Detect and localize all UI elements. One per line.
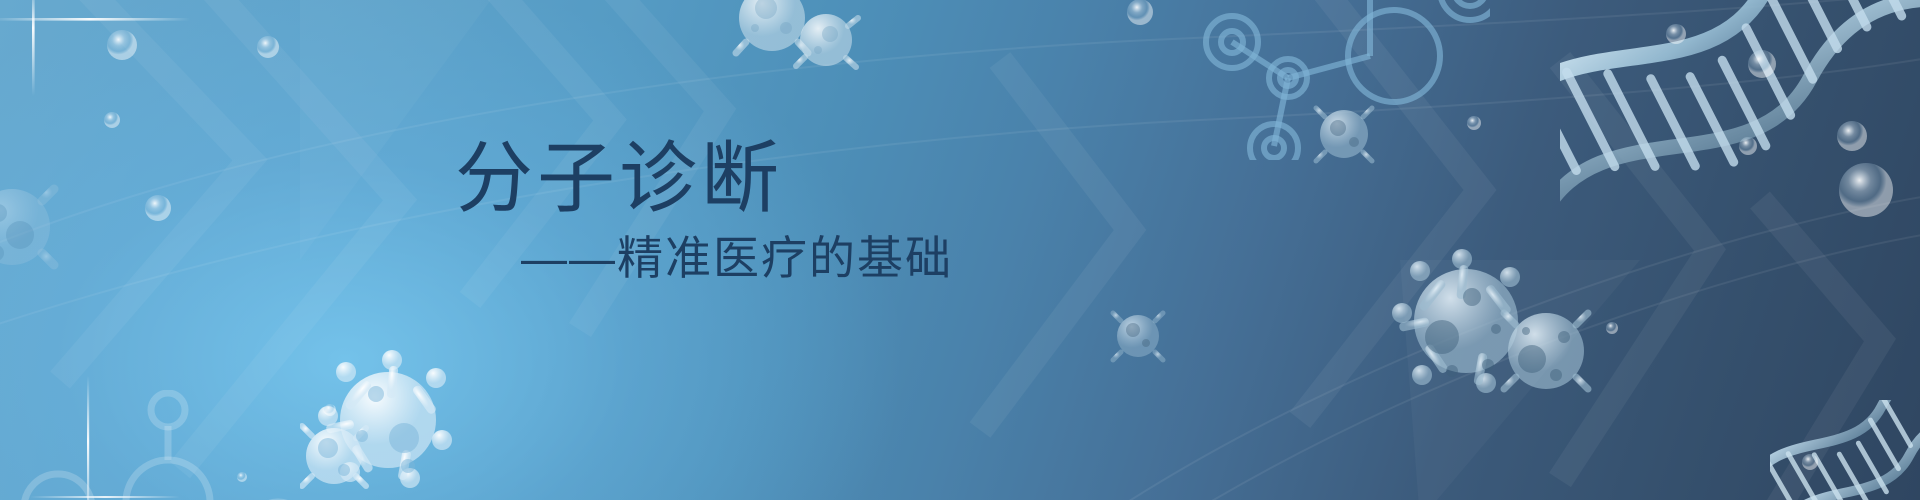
dna-helix-large-right-icon	[1560, 0, 1920, 280]
sparkle-star-bottom-left-icon	[20, 368, 200, 500]
microbe-small-dna-icon	[1300, 92, 1390, 172]
page-subtitle: ——精准医疗的基础	[521, 235, 953, 281]
microbe-tiny-bottom-icon	[1100, 298, 1176, 370]
page-title: 分子诊断	[455, 139, 783, 217]
molecular-diagnostics-banner: 分子诊断 ——精准医疗的基础	[0, 0, 1920, 500]
banner-text-block: 分子诊断 ——精准医疗的基础	[0, 0, 1920, 500]
molecule-structure-top-icon	[1170, 0, 1490, 160]
sparkle-star-top-left-icon	[0, 0, 190, 166]
molecule-structure-bottom-left-icon	[10, 390, 330, 500]
microbe-cluster-top-center-icon	[710, 0, 890, 110]
microbe-cluster-right-icon	[1380, 225, 1630, 405]
bubble-cluster	[0, 0, 1920, 500]
microbe-cluster-left-edge-icon	[0, 155, 110, 285]
background-polygon-wash	[0, 0, 1920, 500]
microbe-cluster-bottom-left-icon	[300, 320, 530, 500]
dna-helix-small-bottom-right-icon	[1770, 400, 1920, 500]
